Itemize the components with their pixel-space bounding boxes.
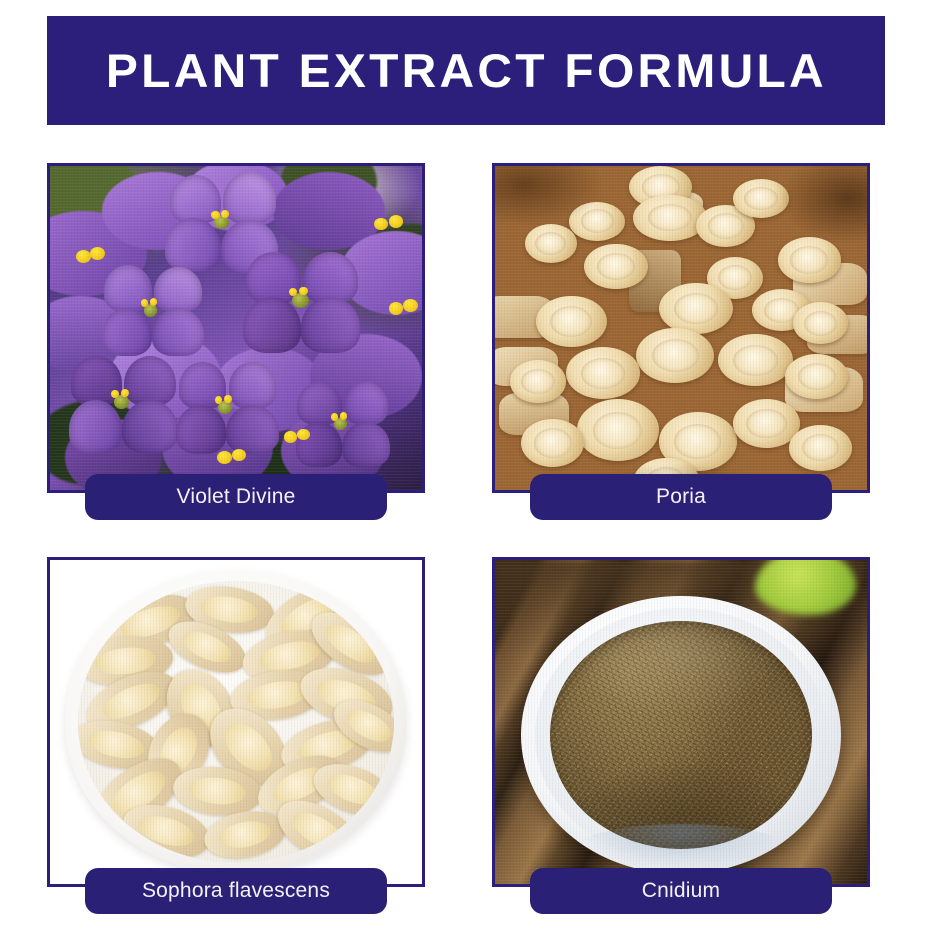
poria-image	[495, 166, 867, 490]
green-leaf	[755, 560, 855, 615]
card-photo-frame	[492, 163, 870, 493]
card-photo-frame	[47, 557, 425, 887]
card-label-text: Cnidium	[642, 879, 720, 903]
sophora-flavescens-image	[50, 560, 422, 884]
card-label-text: Poria	[656, 485, 706, 509]
card-label-pill[interactable]: Cnidium	[530, 868, 832, 914]
card-sophora-flavescens[interactable]: Sophora flavescens	[47, 557, 425, 887]
card-cnidium[interactable]: Cnidium	[492, 557, 870, 887]
cnidium-image	[495, 560, 867, 884]
card-label-pill[interactable]: Violet Divine	[85, 474, 387, 520]
card-label-pill[interactable]: Poria	[530, 474, 832, 520]
poster-root: PLANT EXTRACT FORMULA	[0, 0, 930, 930]
violet-divine-image	[50, 166, 422, 490]
card-label-pill[interactable]: Sophora flavescens	[85, 868, 387, 914]
card-label-text: Violet Divine	[177, 485, 296, 509]
card-label-text: Sophora flavescens	[142, 879, 330, 903]
card-violet-divine[interactable]: Violet Divine	[47, 163, 425, 493]
card-photo-frame	[492, 557, 870, 887]
card-poria[interactable]: Poria	[492, 163, 870, 493]
product-card-grid: Violet Divine	[0, 0, 930, 930]
card-photo-frame	[47, 163, 425, 493]
